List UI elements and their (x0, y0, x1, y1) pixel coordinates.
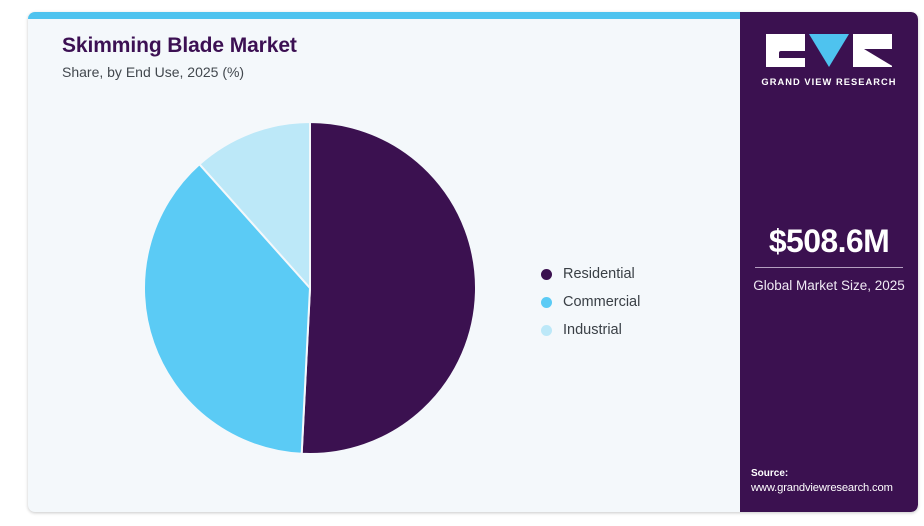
stat-divider (755, 267, 903, 268)
gvr-logo-v-icon (809, 34, 849, 67)
market-size-label: Global Market Size, 2025 (748, 277, 910, 295)
legend-item[interactable]: Industrial (541, 316, 640, 344)
pie-chart-svg (143, 121, 477, 455)
brand-panel: GRAND VIEW RESEARCH $508.6M Global Marke… (740, 12, 918, 512)
chart-canvas: Skimming Blade Market Share, by End Use,… (0, 0, 924, 526)
legend-item[interactable]: Commercial (541, 288, 640, 316)
gvr-logo-marks (740, 34, 918, 68)
pie-slice[interactable] (302, 122, 476, 454)
source-title: Source: (751, 467, 910, 481)
gvr-logo-g-icon (766, 34, 805, 67)
legend-swatch-icon (541, 297, 552, 308)
legend-item-label: Industrial (563, 322, 622, 338)
chart-legend: ResidentialCommercialIndustrial (541, 260, 640, 344)
chart-subtitle: Share, by End Use, 2025 (%) (62, 64, 622, 81)
chart-title: Skimming Blade Market (62, 34, 622, 57)
legend-swatch-icon (541, 269, 552, 280)
source-block: Source: www.grandviewresearch.com (751, 467, 910, 496)
legend-item-label: Residential (563, 266, 635, 282)
legend-item[interactable]: Residential (541, 260, 640, 288)
gvr-wordmark: GRAND VIEW RESEARCH (740, 77, 918, 87)
chart-card: Skimming Blade Market Share, by End Use,… (28, 12, 918, 512)
market-size-value: $508.6M (748, 225, 910, 259)
market-size-stat: $508.6M Global Market Size, 2025 (748, 225, 910, 295)
chart-header: Skimming Blade Market Share, by End Use,… (62, 34, 622, 81)
legend-swatch-icon (541, 325, 552, 336)
legend-item-label: Commercial (563, 294, 640, 310)
pie-chart (143, 121, 477, 455)
source-url[interactable]: www.grandviewresearch.com (751, 481, 910, 496)
top-accent-bar (28, 12, 744, 19)
gvr-logo: GRAND VIEW RESEARCH (740, 34, 918, 87)
gvr-logo-r-icon (853, 34, 892, 67)
